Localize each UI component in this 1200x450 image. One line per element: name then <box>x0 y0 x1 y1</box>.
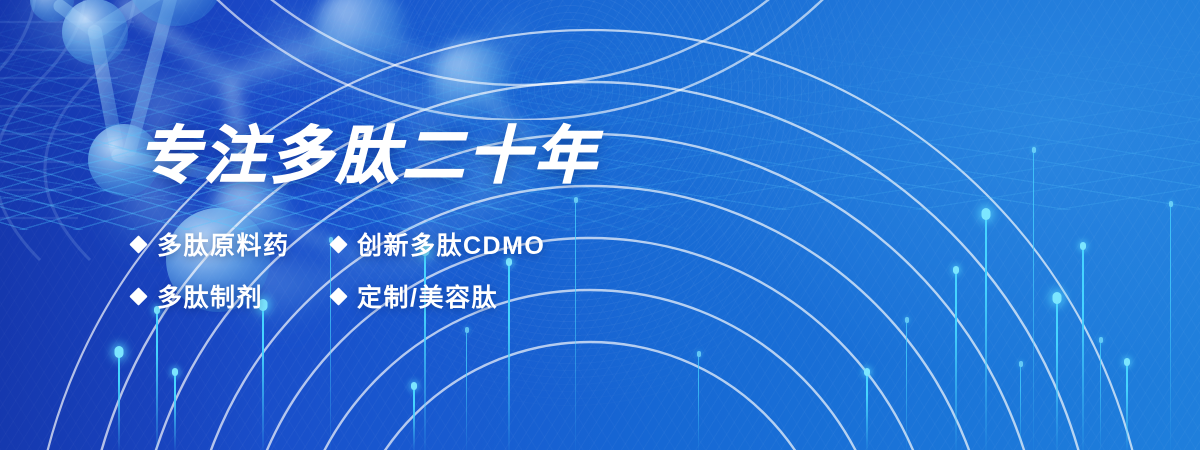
feature-item-innovative-cdmo: 创新多肽CDMO <box>332 226 592 262</box>
promo-banner: 专注多肽二十年 多肽原料药 创新多肽CDMO 多肽制剂 定制/美容肽 <box>0 0 1200 450</box>
feature-label: 多肽原料药 <box>157 226 290 262</box>
feature-list: 多肽原料药 创新多肽CDMO 多肽制剂 定制/美容肽 <box>132 218 602 322</box>
data-pin-icon <box>1126 362 1128 450</box>
diamond-bullet-icon <box>329 235 347 253</box>
feature-item-custom-cosmetic-peptide: 定制/美容肽 <box>332 278 592 314</box>
data-pin-icon <box>866 372 868 450</box>
data-pin-icon <box>1056 298 1058 450</box>
diamond-bullet-icon <box>129 235 147 253</box>
feature-label: 创新多肽CDMO <box>357 226 545 262</box>
diamond-bullet-icon <box>329 287 347 305</box>
data-pin-icon <box>1020 364 1021 450</box>
data-pin-icon <box>955 270 957 450</box>
data-pin-icon <box>906 320 907 450</box>
data-pin-icon <box>1100 340 1101 450</box>
diamond-bullet-icon <box>129 287 147 305</box>
feature-label: 定制/美容肽 <box>357 278 498 314</box>
data-pin-icon <box>1170 204 1171 450</box>
feature-item-peptide-api: 多肽原料药 <box>132 226 332 262</box>
feature-item-peptide-formulation: 多肽制剂 <box>132 278 332 314</box>
data-pin-icon <box>985 214 987 450</box>
feature-label: 多肽制剂 <box>157 278 263 314</box>
data-pin-icon <box>1033 150 1034 450</box>
page-title: 专注多肽二十年 <box>138 122 600 192</box>
data-pin-icon <box>1082 246 1084 450</box>
banner-content: 专注多肽二十年 多肽原料药 创新多肽CDMO 多肽制剂 定制/美容肽 <box>0 0 700 450</box>
